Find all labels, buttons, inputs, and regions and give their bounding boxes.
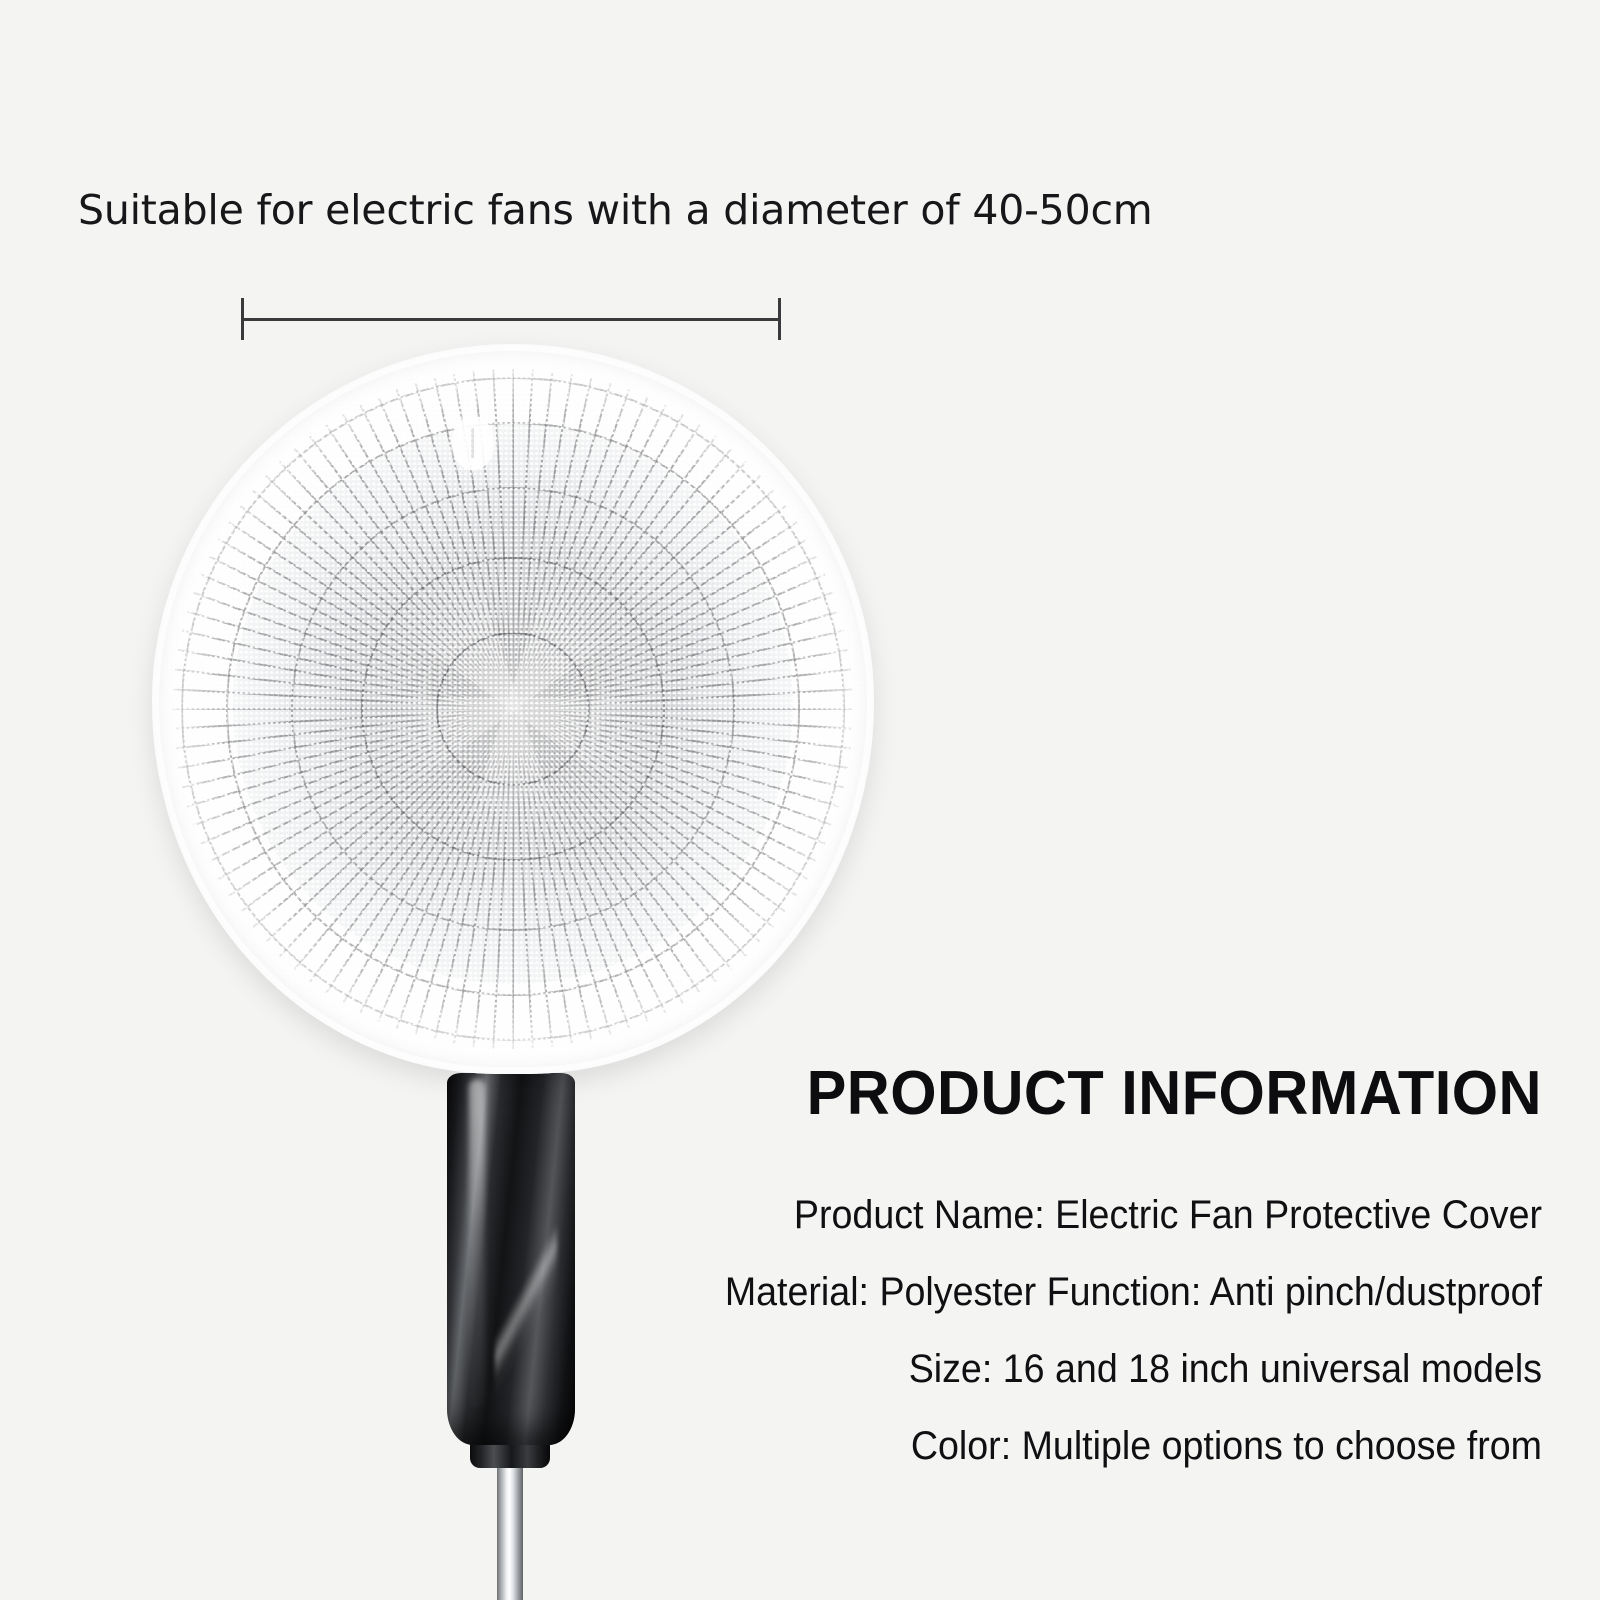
fan-motor-housing <box>447 1073 575 1445</box>
product-spec-list: Product Name: Electric Fan Protective Co… <box>662 1193 1542 1469</box>
protective-cover-elastic-hem <box>152 344 874 1074</box>
fan-head-with-cover <box>152 344 874 1074</box>
product-detail-page: Suitable for electric fans with a diamet… <box>0 0 1600 1600</box>
spec-color: Color: Multiple options to choose from <box>715 1424 1542 1469</box>
spec-product-name: Product Name: Electric Fan Protective Co… <box>715 1193 1542 1238</box>
fan-pole <box>497 1455 523 1600</box>
spec-size: Size: 16 and 18 inch universal models <box>715 1347 1542 1392</box>
product-information-block: PRODUCT INFORMATION Product Name: Electr… <box>662 1062 1542 1469</box>
product-information-heading: PRODUCT INFORMATION <box>697 1062 1542 1126</box>
spec-material-function: Material: Polyester Function: Anti pinch… <box>715 1270 1542 1315</box>
